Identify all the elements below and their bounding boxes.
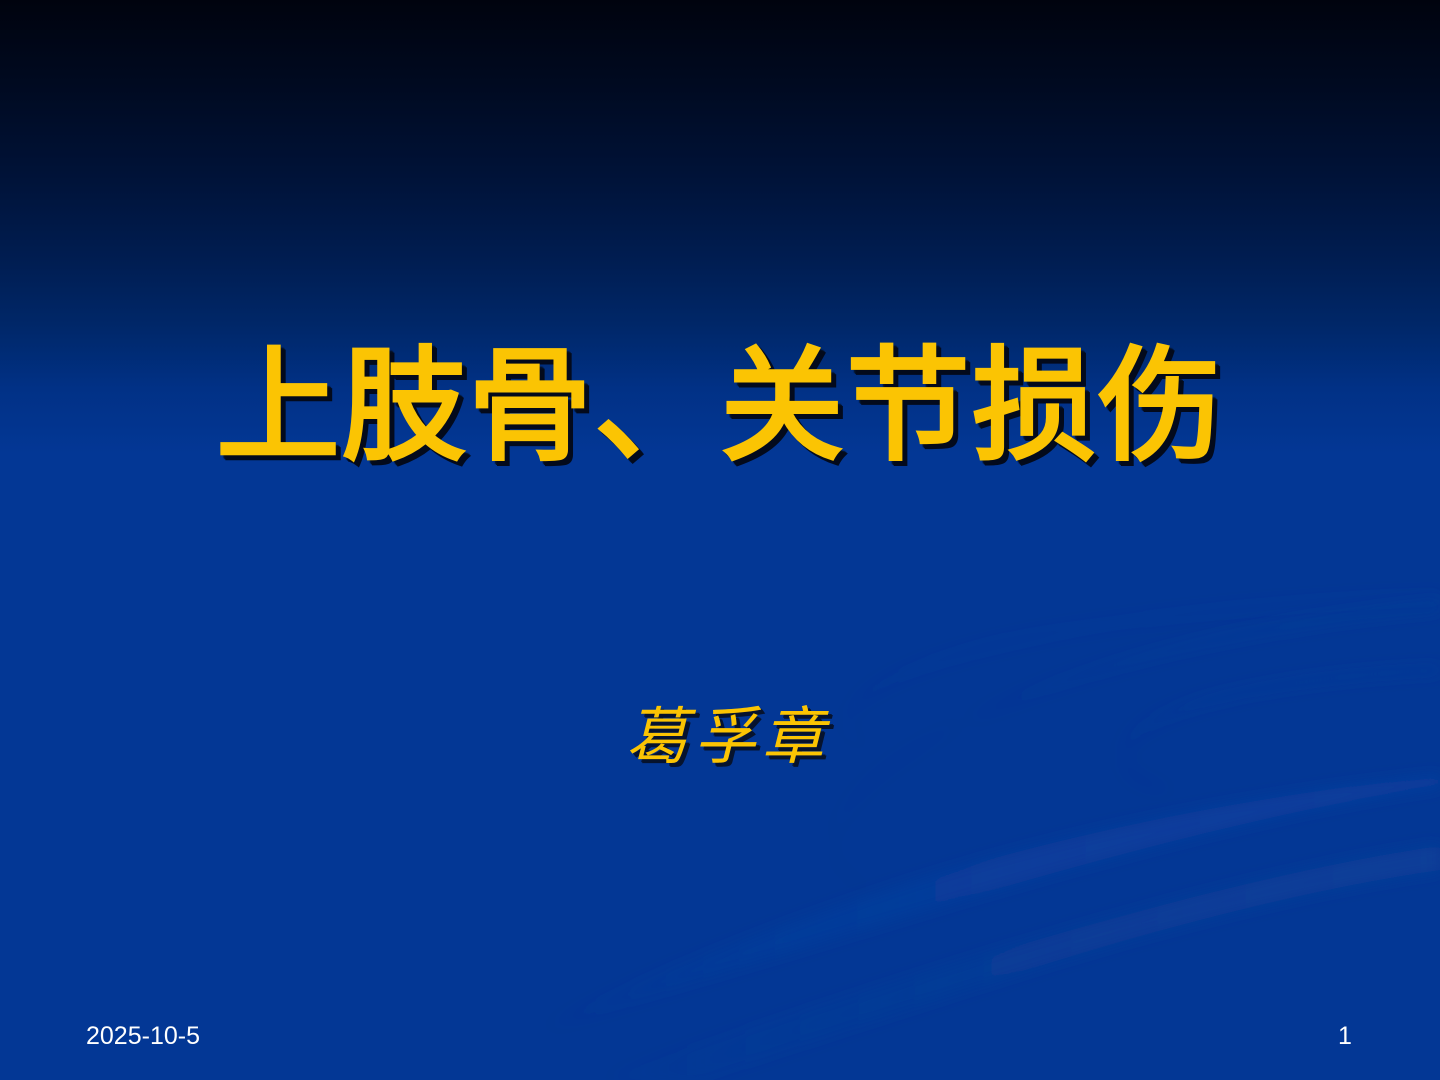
slide-title-block: 上肢骨、关节损伤 <box>0 338 1440 477</box>
footer-date: 2025-10-5 <box>86 1022 200 1051</box>
ribbon-band-lower-2 <box>600 846 1440 1080</box>
footer-page-number: 1 <box>1330 1022 1360 1051</box>
ribbon-decoration <box>0 0 1440 1080</box>
slide-subtitle-block: 葛孚章 <box>0 700 1440 773</box>
slide-subtitle-author: 葛孚章 <box>626 700 830 773</box>
presentation-slide: 上肢骨、关节损伤 葛孚章 2025-10-5 1 <box>0 0 1440 1080</box>
ribbon-band-lower <box>540 776 1440 1030</box>
slide-title: 上肢骨、关节损伤 <box>216 338 1224 477</box>
